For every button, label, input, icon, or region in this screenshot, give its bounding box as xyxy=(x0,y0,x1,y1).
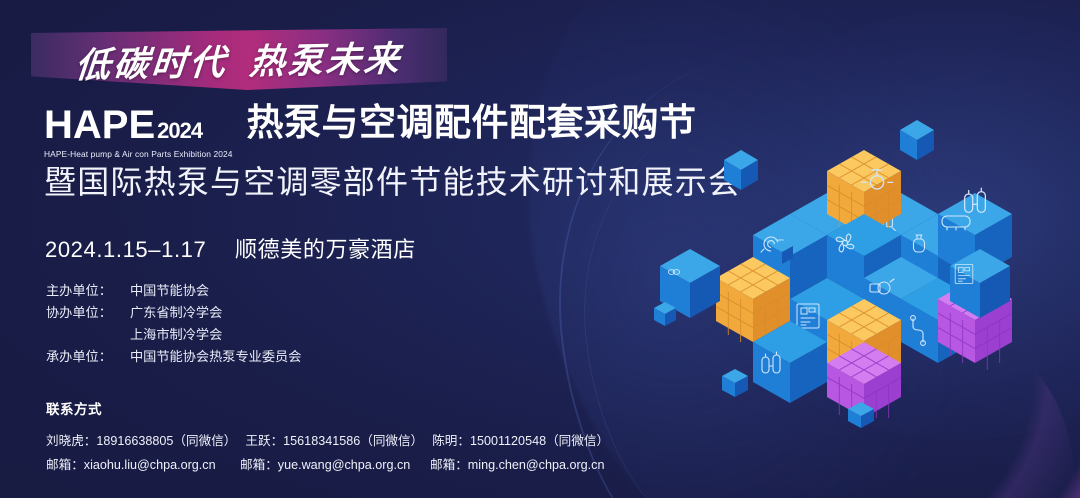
date-venue-line: 2024.1.15–1.17 顺德美的万豪酒店 xyxy=(45,232,416,264)
organizer-list: 主办单位：中国节能协会协办单位：广东省制冷学会协办单位：上海市制冷学会承办单位：… xyxy=(46,280,301,368)
isometric-cube-cluster xyxy=(672,118,1012,418)
contact-phone-line: 刘晓虎：18916638805（同微信）王跃：15618341586（同微信）陈… xyxy=(46,429,618,453)
contact-email-label: 邮箱： xyxy=(240,458,278,472)
contact-block: 联系方式 刘晓虎：18916638805（同微信）王跃：15618341586（… xyxy=(46,398,618,477)
organizer-value: 上海市制冷学会 xyxy=(130,324,222,346)
headline-row: HAPE 2024 HAPE-Heat pump & Air con Parts… xyxy=(44,103,696,159)
event-venue: 顺德美的万豪酒店 xyxy=(235,237,416,262)
contact-phone-number[interactable]: 18916638805 xyxy=(96,434,173,448)
contact-person-phone: 陈明：15001120548（同微信） xyxy=(432,429,609,453)
contact-title: 联系方式 xyxy=(46,398,618,418)
contact-person-name: 陈明： xyxy=(432,434,470,448)
slogan-banner: 低碳时代 热泵未来 xyxy=(31,28,447,90)
contact-wechat-note: （同微信） xyxy=(173,434,236,448)
organizer-label: 承办单位： xyxy=(46,346,130,368)
page-subtitle: 暨国际热泵与空调零部件节能技术研讨和展示会 xyxy=(44,166,741,198)
hape-logo-main: HAPE 2024 xyxy=(44,105,232,145)
floating-cube-small xyxy=(724,150,758,190)
contact-person-phone: 王跃：15618341586（同微信） xyxy=(245,429,423,453)
contact-phone-number[interactable]: 15618341586 xyxy=(283,434,360,448)
contact-person-email: 邮箱：yue.wang@chpa.org.cn xyxy=(240,453,430,477)
contact-person-phone: 刘晓虎：18916638805（同微信） xyxy=(46,429,236,453)
contact-email-address[interactable]: xiaohu.liu@chpa.org.cn xyxy=(84,458,216,472)
slogan-part-1: 低碳时代 xyxy=(74,34,231,88)
organizer-value: 中国节能协会 xyxy=(130,280,209,302)
contact-person-name: 刘晓虎： xyxy=(46,434,96,448)
contact-wechat-note: （同微信） xyxy=(546,434,609,448)
event-date: 2024.1.15–1.17 xyxy=(45,237,206,262)
floating-cube-small xyxy=(900,120,934,160)
organizer-row: 承办单位：中国节能协会热泵专业委员会 xyxy=(46,346,301,368)
contact-person-email: 邮箱：xiaohu.liu@chpa.org.cn xyxy=(46,453,240,477)
hape-logo: HAPE 2024 HAPE-Heat pump & Air con Parts… xyxy=(44,103,232,159)
organizer-row: 协办单位：广东省制冷学会 xyxy=(46,302,301,324)
organizer-value: 中国节能协会热泵专业委员会 xyxy=(130,346,301,368)
organizer-value: 广东省制冷学会 xyxy=(130,302,222,324)
contact-email-line: 邮箱：xiaohu.liu@chpa.org.cn邮箱：yue.wang@chp… xyxy=(46,453,618,477)
organizer-label: 协办单位： xyxy=(46,302,130,324)
hape-logo-subtitle: HAPE-Heat pump & Air con Parts Exhibitio… xyxy=(44,149,232,159)
contact-email-address[interactable]: yue.wang@chpa.org.cn xyxy=(278,458,411,472)
floating-cube-tiny xyxy=(722,369,748,397)
organizer-row: 主办单位：中国节能协会 xyxy=(46,280,301,302)
contact-email-label: 邮箱： xyxy=(430,458,468,472)
hape-logo-brand: HAPE xyxy=(44,105,155,145)
contact-email-address[interactable]: ming.chen@chpa.org.cn xyxy=(468,458,605,472)
contact-email-label: 邮箱： xyxy=(46,458,84,472)
contact-person-name: 王跃： xyxy=(245,434,283,448)
poster-root: 低碳时代 热泵未来 HAPE 2024 HAPE-Heat pump & Air… xyxy=(0,0,1080,498)
contact-wechat-note: （同微信） xyxy=(360,434,423,448)
contact-phone-number[interactable]: 15001120548 xyxy=(470,434,546,448)
organizer-label: 主办单位： xyxy=(46,280,130,302)
page-title: 热泵与空调配件配套采购节 xyxy=(246,103,696,141)
slogan-part-2: 热泵未来 xyxy=(248,30,405,84)
slogan-text: 低碳时代 热泵未来 xyxy=(28,24,450,95)
organizer-row: 协办单位：上海市制冷学会 xyxy=(46,324,301,346)
hape-logo-year: 2024 xyxy=(157,120,202,142)
contact-person-email: 邮箱：ming.chen@chpa.org.cn xyxy=(430,453,604,477)
